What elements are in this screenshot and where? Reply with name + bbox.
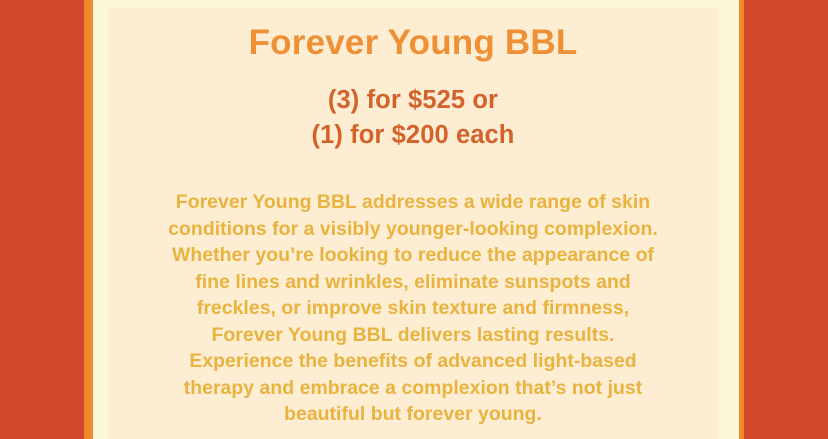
description-line: Whether you’re looking to reduce the app… (112, 242, 714, 268)
description-line: Forever Young BBL delivers lasting resul… (112, 322, 714, 348)
description-line: beautiful but forever young. (112, 401, 714, 427)
description-line: freckles, or improve skin texture and fi… (112, 295, 714, 321)
promo-title: Forever Young BBL (108, 8, 718, 63)
promo-card: Forever Young BBL (3) for $525 or (1) fo… (108, 8, 718, 439)
promo-flyer: Forever Young BBL (3) for $525 or (1) fo… (0, 0, 828, 439)
description-line: conditions for a visibly younger-looking… (112, 216, 714, 242)
wood-panel-right (744, 0, 828, 439)
price-line-single: (1) for $200 each (108, 118, 718, 153)
accent-stripe-left (84, 0, 93, 439)
description-block: Forever Young BBL addresses a wide range… (108, 189, 718, 427)
price-line-multi: (3) for $525 or (108, 83, 718, 118)
description-line: Forever Young BBL addresses a wide range… (112, 189, 714, 215)
accent-stripe-right (739, 0, 744, 439)
frame-band-left (93, 0, 108, 439)
frame-band-right (718, 0, 739, 439)
description-line: therapy and embrace a complexion that’s … (112, 375, 714, 401)
wood-panel-left (0, 0, 84, 439)
pricing-block: (3) for $525 or (1) for $200 each (108, 83, 718, 154)
description-line: Experience the benefits of advanced ligh… (112, 348, 714, 374)
description-line: fine lines and wrinkles, eliminate sunsp… (112, 269, 714, 295)
